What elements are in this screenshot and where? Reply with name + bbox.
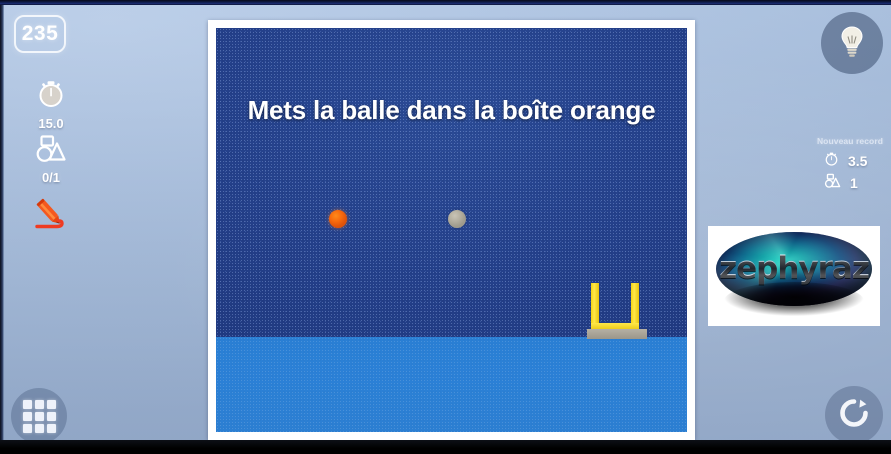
zephyraz-logo: zephyraz: [708, 226, 880, 326]
timer-value: 15.0: [3, 116, 99, 131]
grid-menu-icon[interactable]: [23, 400, 56, 433]
record-row-time: 3.5: [809, 150, 891, 172]
draw-tool-button[interactable]: [3, 194, 99, 239]
hud-shapes: 0/1: [3, 134, 99, 185]
stopwatch-icon: [823, 150, 840, 172]
new-record-panel: Nouveau record 3.5: [809, 136, 891, 194]
shapes-icon: [823, 173, 842, 194]
pencil-icon[interactable]: [3, 194, 99, 239]
box-base-platform: [587, 329, 647, 339]
shapes-value: 0/1: [3, 170, 99, 185]
score-badge: 235: [14, 15, 66, 53]
restart-button[interactable]: [825, 386, 883, 444]
device-bezel-left: [0, 0, 4, 454]
device-bezel-bottom: [0, 440, 891, 454]
stopwatch-icon: [3, 76, 99, 115]
logo-shadow: [724, 282, 864, 320]
refresh-icon[interactable]: [838, 397, 870, 434]
record-row-shapes: 1: [809, 172, 891, 194]
lightbulb-icon[interactable]: [837, 24, 867, 63]
score-value: 235: [22, 22, 59, 46]
shapes-icon: [3, 134, 99, 169]
level-instruction-text: Mets la balle dans la boîte orange: [216, 95, 687, 126]
hud-timer: 15.0: [3, 76, 99, 131]
target-box: [587, 283, 647, 339]
ball-orange[interactable]: [329, 210, 347, 228]
game-canvas[interactable]: Mets la balle dans la boîte orange: [216, 28, 687, 432]
ball-grey[interactable]: [448, 210, 466, 228]
left-hud: 235 15.0: [3, 4, 99, 444]
record-shapes-value: 1: [850, 175, 858, 191]
device-bezel-top: [0, 0, 891, 5]
hint-button[interactable]: [821, 12, 883, 74]
water-surface: [216, 337, 687, 432]
new-record-title: Nouveau record: [809, 136, 891, 146]
game-app-background: 235 15.0: [3, 4, 891, 444]
game-canvas-frame: Mets la balle dans la boîte orange: [208, 20, 695, 440]
zephyraz-logo-text: zephyraz: [708, 250, 880, 286]
record-time-value: 3.5: [848, 153, 867, 169]
screen-photo: 235 15.0: [0, 0, 891, 454]
menu-grid-button[interactable]: [11, 388, 67, 444]
